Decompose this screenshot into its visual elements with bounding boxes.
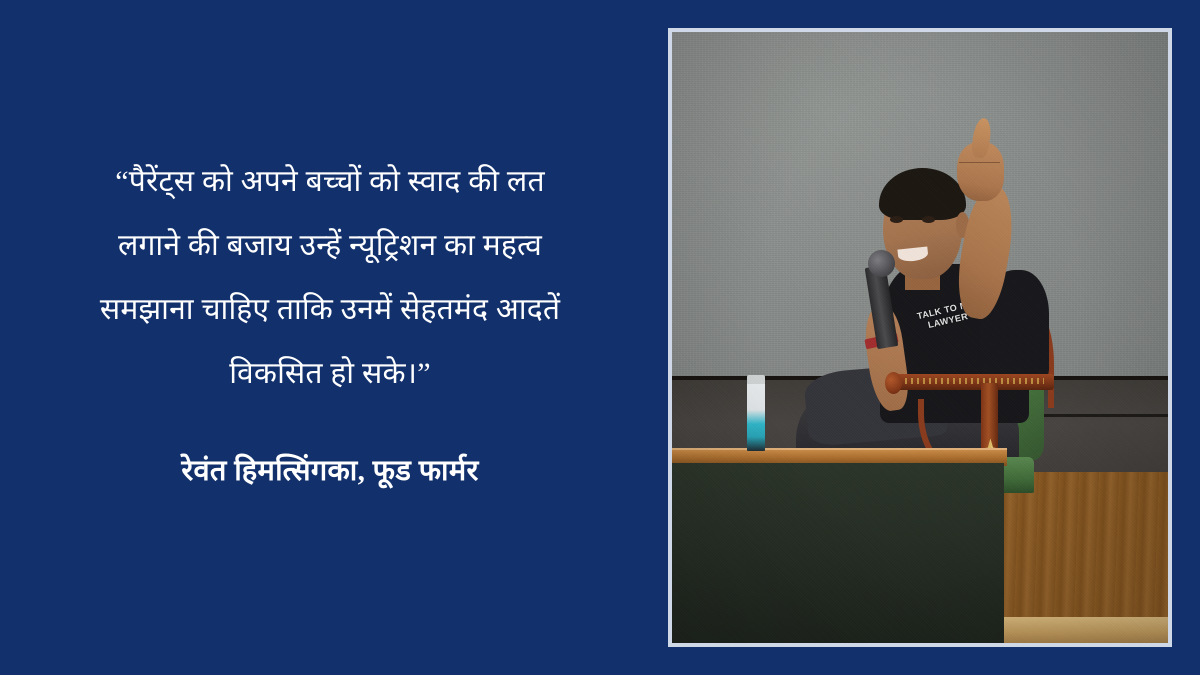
speaker-knuckle-line [959, 162, 1001, 163]
quote-attribution: रेवंत हिमत्सिंगका, फूड फार्मर [181, 450, 478, 489]
chair-armrest-studs [905, 378, 1044, 384]
water-bottle-cap [747, 375, 765, 384]
quote-line-3: समझाना चाहिए ताकि उनमें सेहतमंद आदतें [100, 278, 560, 342]
table-skirt [672, 463, 1004, 643]
quote-line-1: “पैरेंट्स को अपने बच्चों को स्वाद की लत [115, 150, 545, 214]
speaker-eye-right [922, 216, 935, 223]
speaker-hair [879, 168, 965, 221]
speaker-photo: TALK TO MY LAWYER [672, 32, 1168, 643]
water-bottle [747, 380, 765, 450]
photo-frame: TALK TO MY LAWYER [668, 28, 1172, 647]
quote-line-2: लगाने की बजाय उन्हें न्यूट्रिशन का महत्व [118, 214, 542, 278]
quote-card: “पैरेंट्स को अपने बच्चों को स्वाद की लत … [0, 0, 1200, 675]
quote-line-4: विकसित हो सके।” [229, 342, 431, 406]
speaker-eye-left [890, 216, 903, 223]
quote-block: “पैरेंट्स को अपने बच्चों को स्वाद की लत … [0, 150, 660, 489]
chair-armrest-knob [885, 372, 902, 394]
